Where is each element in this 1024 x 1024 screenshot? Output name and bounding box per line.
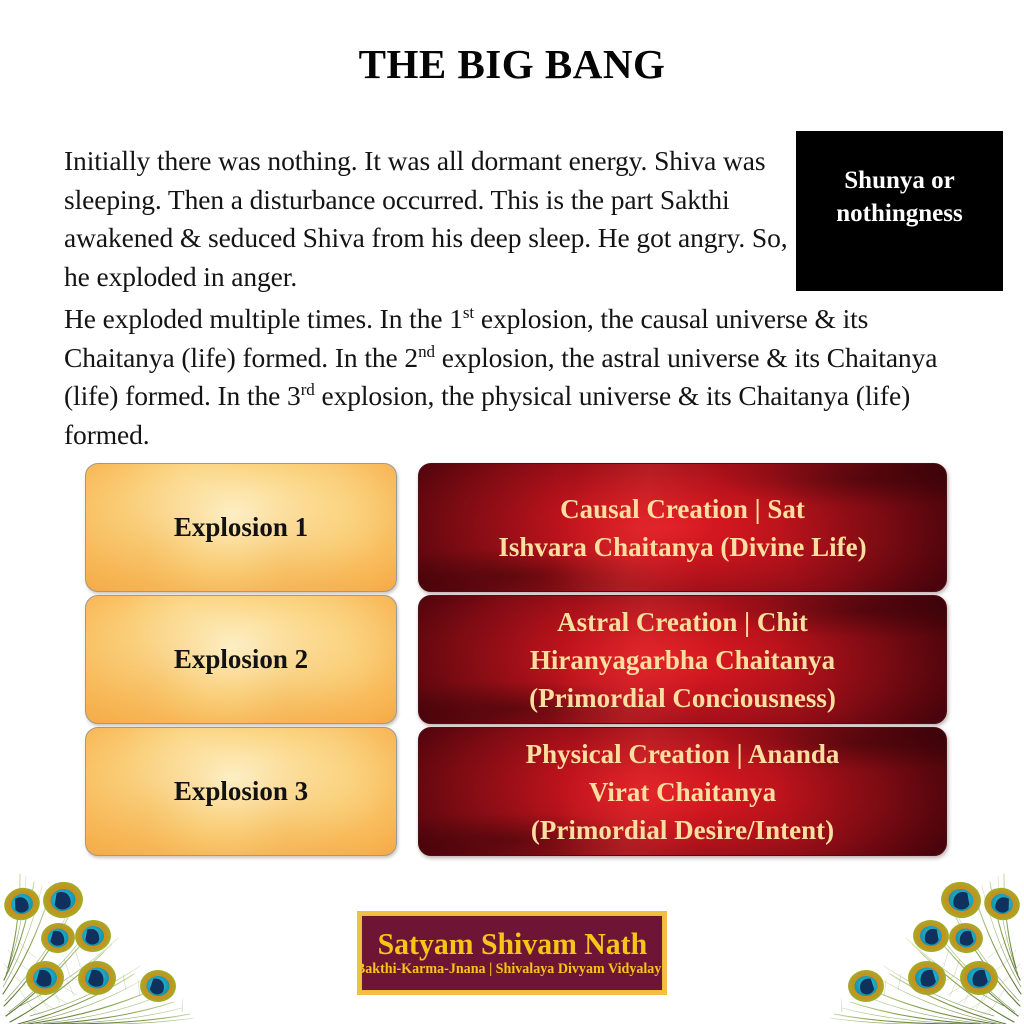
creation-box-2[interactable]: Astral Creation | Chit Hiranyagarbha Cha… (418, 595, 947, 724)
brand-logo-banner[interactable]: Satyam Shivam Nath Bakthi-Karma-Jnana | … (357, 911, 667, 995)
creation-label-1: Causal Creation | Sat Ishvara Chaitanya … (490, 490, 874, 566)
brand-logo-inner: Satyam Shivam Nath Bakthi-Karma-Jnana | … (361, 915, 663, 991)
creation-label-2: Astral Creation | Chit Hiranyagarbha Cha… (521, 603, 844, 717)
creation-label-3: Physical Creation | Ananda Virat Chaitan… (518, 735, 848, 849)
explosion-label-2: Explosion 2 (174, 644, 308, 675)
explosion-box-1[interactable]: Explosion 1 (85, 463, 397, 592)
brand-tagline: Bakthi-Karma-Jnana | Shivalaya Divyam Vi… (361, 961, 663, 978)
page-title: THE BIG BANG (0, 42, 1024, 87)
ordinal-suffix-first: st (463, 303, 474, 322)
shunya-line-1: Shunya or (796, 164, 1003, 197)
brand-name: Satyam Shivam Nath (377, 928, 647, 960)
shunya-callout-box: Shunya or nothingness (796, 131, 1003, 291)
ordinal-suffix-third: rd (301, 380, 315, 399)
explosions-paragraph: He exploded multiple times. In the 1st e… (64, 300, 984, 454)
explosion-label-1: Explosion 1 (174, 512, 308, 543)
intro-paragraph: Initially there was nothing. It was all … (64, 142, 794, 296)
peacock-feather-decoration-left (0, 856, 210, 1024)
peacock-feather-decoration-right (814, 856, 1024, 1024)
explosion-label-3: Explosion 3 (174, 776, 308, 807)
shunya-line-2: nothingness (796, 197, 1003, 230)
slide-canvas: THE BIG BANG Initially there was nothing… (0, 0, 1024, 1024)
explosion-box-3[interactable]: Explosion 3 (85, 727, 397, 856)
explosions-text-1: He exploded multiple times. In the 1 (64, 303, 463, 334)
explosion-box-2[interactable]: Explosion 2 (85, 595, 397, 724)
creation-box-1[interactable]: Causal Creation | Sat Ishvara Chaitanya … (418, 463, 947, 592)
creation-box-3[interactable]: Physical Creation | Ananda Virat Chaitan… (418, 727, 947, 856)
ordinal-suffix-second: nd (418, 341, 435, 360)
